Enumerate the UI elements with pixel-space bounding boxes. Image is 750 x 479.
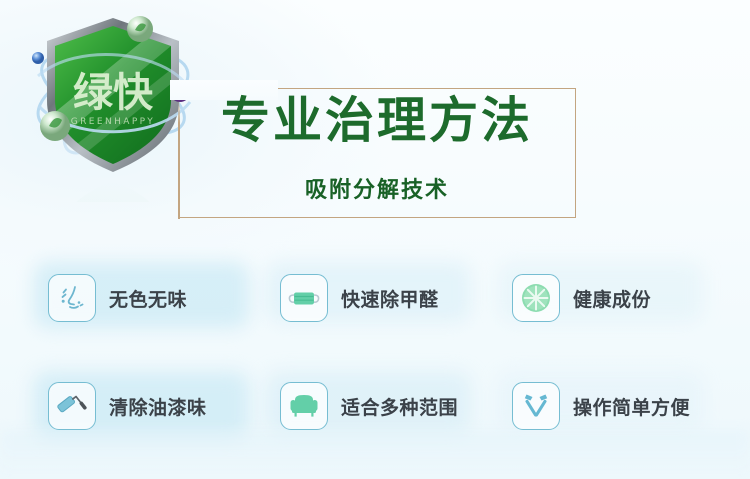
feature-item-healthy: 健康成份 [512,274,651,322]
feature-item-easy-use: 操作简单方便 [512,382,690,430]
sofa-icon [280,382,328,430]
citrus-slice-icon [512,274,560,322]
page-title: 专业治理方法 [178,96,576,145]
feature-label: 适合多种范围 [341,393,458,420]
promo-banner: 绿快 GREENHAPPY 专业治理方法 吸附分解技术 [0,0,750,479]
feature-label: 快速除甲醛 [341,285,439,312]
nose-smell-icon [48,274,96,322]
feature-item-odorless: 无色无味 [48,274,187,322]
logo-latin: GREENHAPPY [71,117,155,127]
hammer-tools-icon [512,382,560,430]
feature-list: 无色无味 快速除甲醛 [0,258,750,458]
orbit-sphere-blue [32,52,44,64]
feature-item-multi-use: 适合多种范围 [280,382,458,430]
face-mask-icon [280,274,328,322]
feature-item-paint-odor: 清除油漆味 [48,382,207,430]
feature-label: 操作简单方便 [573,393,690,420]
feature-label: 清除油漆味 [109,393,207,420]
feature-item-formaldehyde: 快速除甲醛 [280,274,439,322]
paint-roller-icon [48,382,96,430]
page-subtitle: 吸附分解技术 [178,172,576,204]
feature-label: 健康成份 [573,285,651,312]
feature-label: 无色无味 [109,285,187,312]
logo-characters: 绿快 [73,70,154,116]
